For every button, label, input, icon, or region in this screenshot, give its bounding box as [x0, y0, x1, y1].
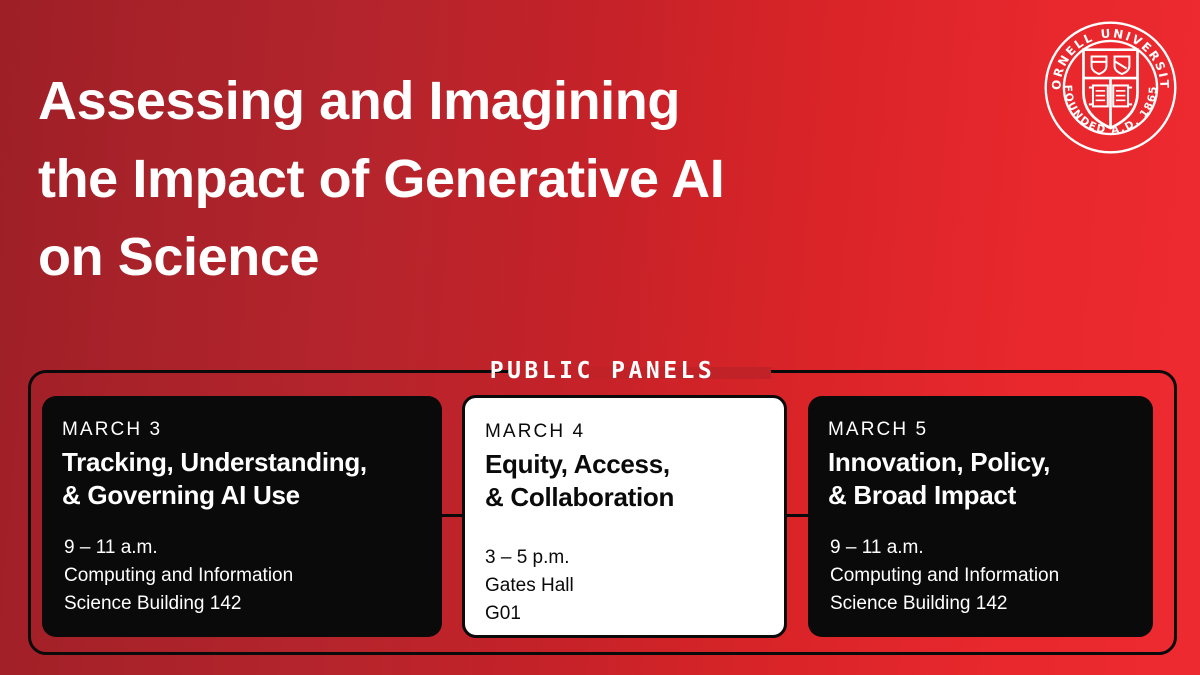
panel-card-title: Tracking, Understanding, & Governing AI …	[62, 446, 422, 512]
panel-card-list: MARCH 3 Tracking, Understanding, & Gover…	[0, 0, 1200, 675]
panel-card-meta: 3 – 5 p.m. Gates Hall G01	[485, 544, 764, 628]
panel-card-title: Equity, Access, & Collaboration	[485, 448, 764, 514]
panel-card-meta: 9 – 11 a.m. Computing and Information Sc…	[62, 534, 422, 618]
panel-card-meta: 9 – 11 a.m. Computing and Information Sc…	[828, 534, 1133, 618]
panel-card-date: MARCH 4	[485, 420, 764, 444]
panel-card-date: MARCH 5	[828, 418, 1133, 442]
slide-root: Assessing and Imagining the Impact of Ge…	[0, 0, 1200, 675]
panel-card-march-4[interactable]: MARCH 4 Equity, Access, & Collaboration …	[462, 395, 787, 638]
panel-card-march-5[interactable]: MARCH 5 Innovation, Policy, & Broad Impa…	[808, 396, 1153, 637]
panel-card-date: MARCH 3	[62, 418, 422, 442]
panel-card-march-3[interactable]: MARCH 3 Tracking, Understanding, & Gover…	[42, 396, 442, 637]
panel-card-title: Innovation, Policy, & Broad Impact	[828, 446, 1133, 512]
